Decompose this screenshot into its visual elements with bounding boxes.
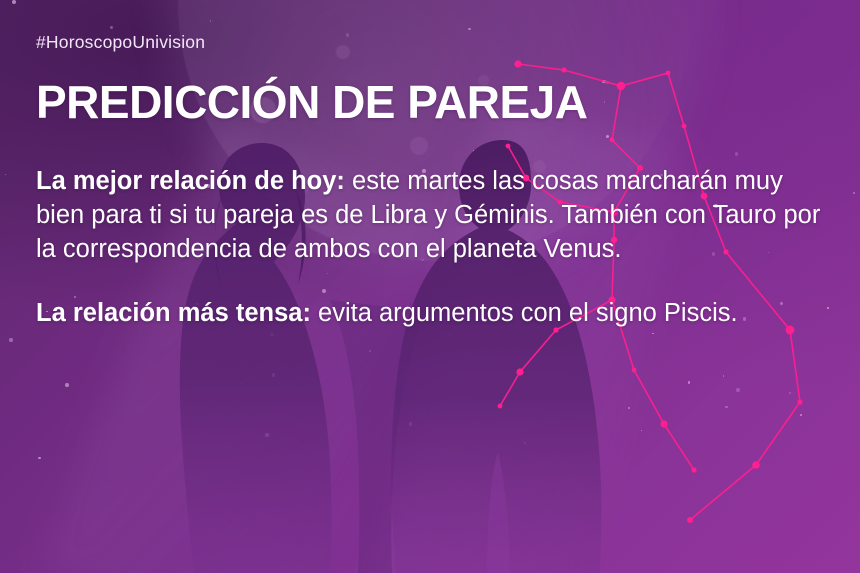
horoscope-card: #HoroscopoUnivision PREDICCIÓN DE PAREJA… <box>0 0 860 573</box>
paragraph-tense-relationship: La relación más tensa: evita argumentos … <box>36 297 826 331</box>
page-title: PREDICCIÓN DE PAREJA <box>36 79 826 125</box>
hashtag-label: #HoroscopoUnivision <box>36 32 826 53</box>
card-content: #HoroscopoUnivision PREDICCIÓN DE PAREJA… <box>0 0 860 573</box>
paragraph-lead: La relación más tensa: <box>36 299 311 327</box>
paragraph-text: evita argumentos con el signo Piscis. <box>311 299 738 327</box>
paragraph-best-relationship: La mejor relación de hoy: este martes la… <box>36 165 826 267</box>
paragraph-lead: La mejor relación de hoy: <box>36 167 345 195</box>
